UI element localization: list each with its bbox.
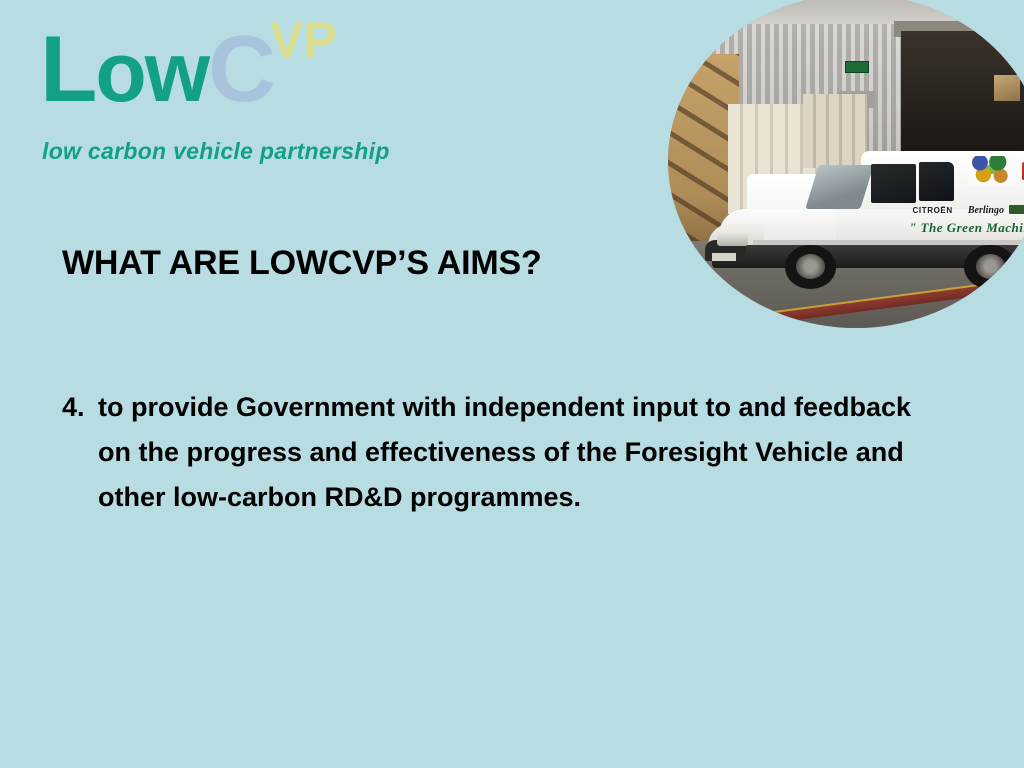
exit-sign <box>845 61 870 73</box>
van-brand-text: CITROËN <box>913 206 953 215</box>
van-rear-window <box>919 162 954 200</box>
loading-bay-cargo <box>994 75 1020 101</box>
van-photo: CITROËN Berlingo " The Green Machine!" <box>668 0 1024 328</box>
logo-text-low: Low <box>40 25 208 119</box>
lowcvp-logo: LowCVP low carbon vehicle partnership <box>40 22 440 167</box>
numbered-list-item: 4. to provide Government with independen… <box>62 385 942 520</box>
logo-letters-ow: ow <box>95 25 208 119</box>
van-front-wheel <box>785 245 837 289</box>
photo-scene: CITROËN Berlingo " The Green Machine!" <box>668 0 1024 328</box>
logo-tagline: low carbon vehicle partnership <box>42 138 390 165</box>
van-green-badge <box>1009 205 1024 214</box>
van-rear-wheel <box>964 245 1016 289</box>
list-item-text: to provide Government with independent i… <box>98 385 942 520</box>
logo-letters-vp: VP <box>270 12 337 68</box>
van-slogan-text: " The Green Machine!" <box>909 220 1024 236</box>
body-content: 4. to provide Government with independen… <box>62 385 942 520</box>
slide-canvas: LowCVP low carbon vehicle partnership <box>0 0 1024 768</box>
list-item-number: 4. <box>62 385 98 430</box>
van-front-window <box>871 164 916 204</box>
logo-wordmark: LowCVP <box>40 22 341 116</box>
citroen-berlingo-van: CITROËN Berlingo " The Green Machine!" <box>698 148 1024 295</box>
van-side-stripe <box>753 240 1024 244</box>
logo-letter-l: L <box>40 16 95 121</box>
van-headlight <box>717 233 748 246</box>
van-world-map-sticker <box>968 156 1016 185</box>
van-model-text: Berlingo <box>968 205 1004 216</box>
page-title: WHAT ARE LOWCVP’S AIMS? <box>62 244 542 283</box>
logo-letter-c: C <box>208 16 274 121</box>
van-number-plate <box>712 253 736 260</box>
